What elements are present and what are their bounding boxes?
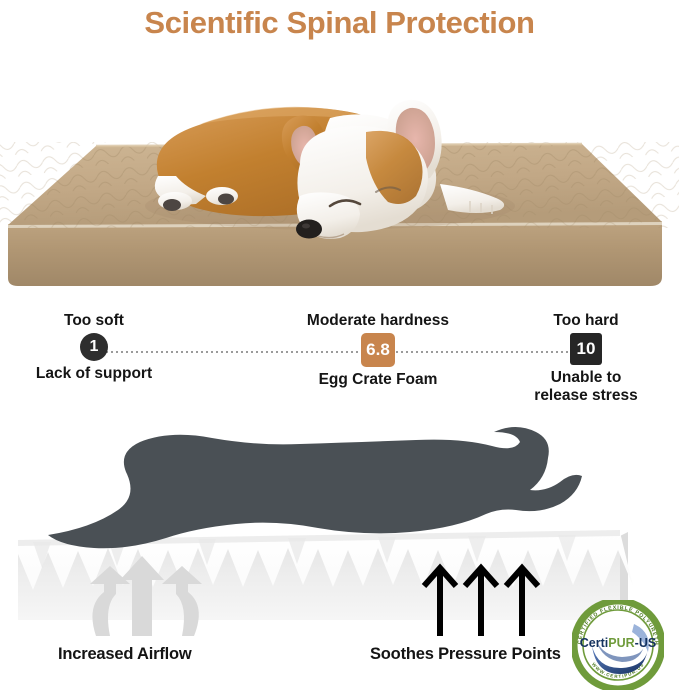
product-hero-image bbox=[0, 46, 679, 298]
certipur-us-badge: CONTAINS CERTIFIED FLEXIBLE POLYURETHANE… bbox=[572, 600, 664, 690]
hardness-scale: Too soft 1 Lack of support Moderate hard… bbox=[0, 312, 679, 412]
svg-text:CertiPUR-US: CertiPUR-US bbox=[580, 636, 656, 650]
page-title: Scientific Spinal Protection bbox=[0, 0, 679, 46]
scale-badge-68: 6.8 bbox=[361, 333, 395, 367]
scale-node-moderate: Moderate hardness 6.8 Egg Crate Foam bbox=[288, 312, 468, 389]
scale-node-caption: Too hard bbox=[500, 312, 672, 330]
pressure-arrows bbox=[424, 568, 538, 636]
brand-prefix: Certi bbox=[580, 636, 608, 650]
scale-node-sub: Unable to release stress bbox=[500, 369, 672, 405]
scale-node-caption: Too soft bbox=[26, 312, 162, 330]
scale-badge-1: 1 bbox=[80, 333, 108, 361]
brand-suffix: -US bbox=[635, 636, 657, 650]
brand-mid: PUR bbox=[608, 636, 634, 650]
caption-increased-airflow: Increased Airflow bbox=[58, 645, 192, 664]
scale-node-too-soft: Too soft 1 Lack of support bbox=[26, 312, 162, 383]
certipur-brand-text: CertiPUR-US bbox=[580, 636, 656, 650]
scale-node-too-hard: Too hard 10 Unable to release stress bbox=[500, 312, 672, 405]
scale-badge-10: 10 bbox=[570, 333, 602, 365]
scale-node-sub: Egg Crate Foam bbox=[288, 371, 468, 389]
scale-node-caption: Moderate hardness bbox=[288, 312, 468, 330]
dog-bed-illustration bbox=[0, 46, 679, 298]
scale-node-sub: Lack of support bbox=[26, 365, 162, 383]
dog-silhouette bbox=[48, 427, 582, 548]
caption-soothes-pressure-points: Soothes Pressure Points bbox=[370, 645, 561, 664]
